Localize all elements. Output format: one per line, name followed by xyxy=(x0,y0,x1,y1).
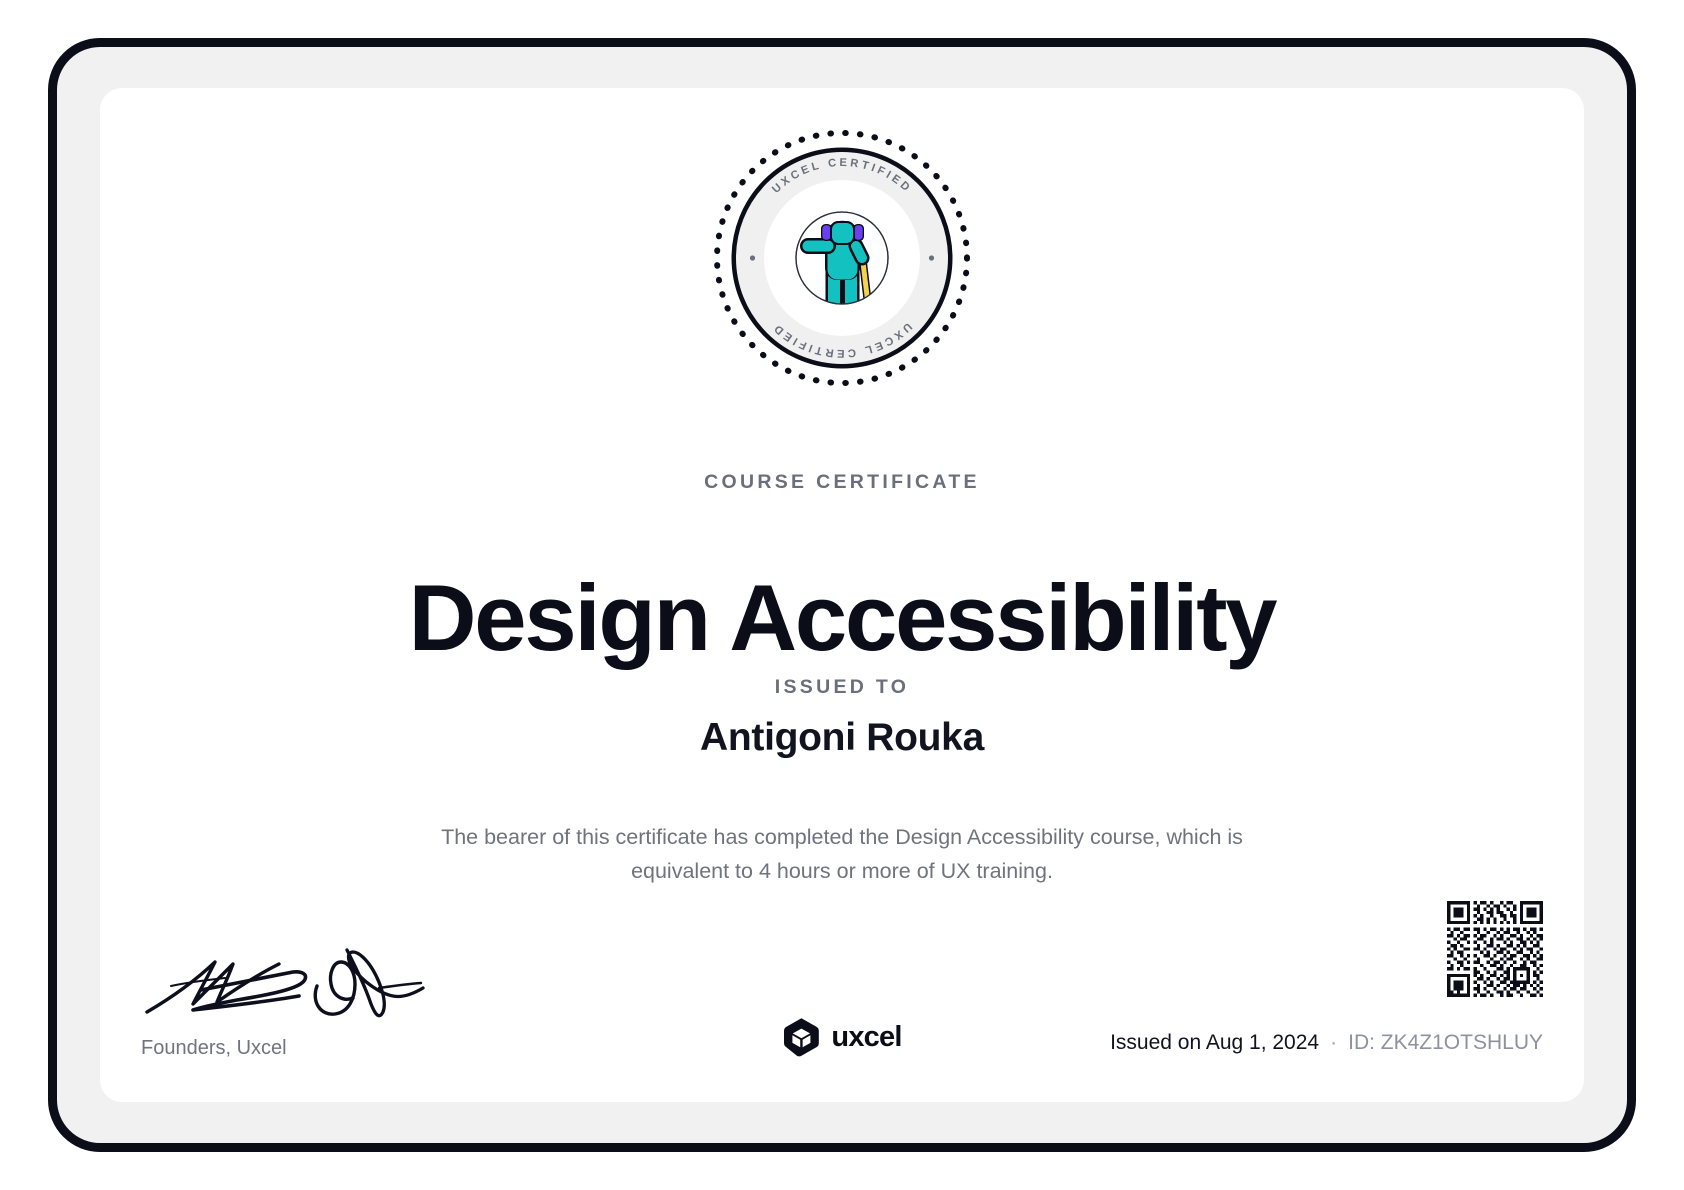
certificate-id: ID: ZK4Z1OTSHLUY xyxy=(1348,1031,1543,1055)
issue-metadata: Issued on Aug 1, 2024 · ID: ZK4Z1OTSHLUY xyxy=(1110,1031,1543,1055)
badge-ring-dot-left xyxy=(750,255,755,260)
founders-label: Founders, Uxcel xyxy=(141,1037,471,1060)
certificate-description: The bearer of this certificate has compl… xyxy=(422,820,1262,888)
founders-signature-icon xyxy=(141,940,441,1025)
meta-separator: · xyxy=(1330,1031,1337,1055)
issue-date: Issued on Aug 1, 2024 xyxy=(1110,1031,1319,1055)
badge-ring-dot-right xyxy=(929,255,934,260)
verification-qr-code[interactable] xyxy=(1447,901,1543,997)
certificate-card: UXCEL CERTIFIED UXCEL CERTIFIED xyxy=(48,38,1636,1152)
page-title: Design Accessibility xyxy=(100,569,1584,668)
uxcel-cube-icon xyxy=(782,1017,820,1057)
certificate-panel: UXCEL CERTIFIED UXCEL CERTIFIED xyxy=(100,88,1584,1102)
uxcel-wordmark: uxcel xyxy=(831,1021,901,1054)
uxcel-logo: uxcel xyxy=(782,1017,901,1057)
signature-block: Founders, Uxcel xyxy=(141,940,471,1060)
issued-to-label: ISSUED TO xyxy=(100,676,1584,699)
recipient-name: Antigoni Rouka xyxy=(100,716,1584,760)
course-certificate-kicker: COURSE CERTIFICATE xyxy=(100,471,1584,494)
uxcel-certified-badge: UXCEL CERTIFIED UXCEL CERTIFIED xyxy=(710,126,974,390)
